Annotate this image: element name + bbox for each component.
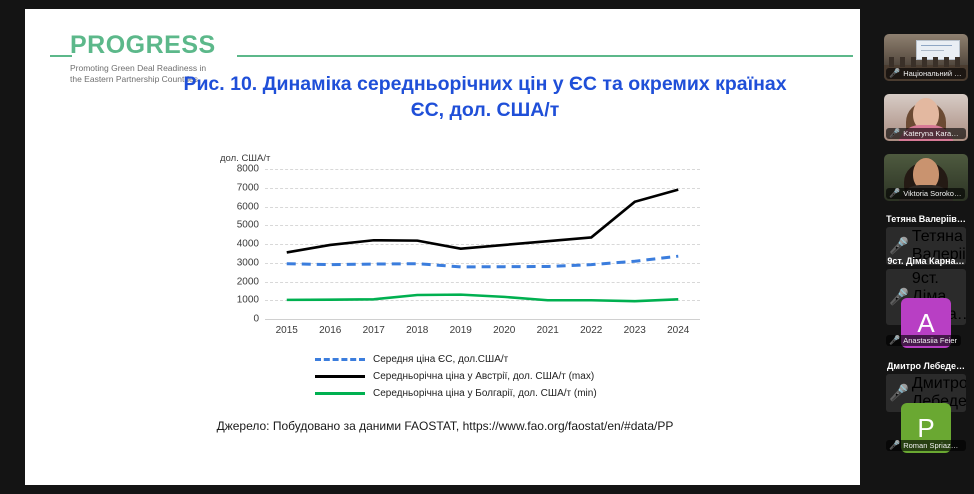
gridline-0 xyxy=(265,319,700,320)
participant-name-heading: 9ст. Діма Карна… xyxy=(884,256,968,266)
logo-wordmark: PROGRESS xyxy=(70,33,230,58)
y-tick-2000: 2000 xyxy=(237,276,259,287)
participant-name: Anastasiia Feier xyxy=(903,336,957,345)
participant-tile[interactable]: 🎤Viktoria Soroko… xyxy=(884,154,968,201)
legend-label-0: Середня ціна ЄС, дол.США/т xyxy=(373,354,508,365)
legend-label-2: Середньорічна ціна у Болгарії, дол. США/… xyxy=(373,388,597,399)
y-tick-3000: 3000 xyxy=(237,257,259,268)
y-tick-7000: 7000 xyxy=(237,182,259,193)
participant-tile[interactable]: 🎤Національний Уні… xyxy=(884,34,968,81)
slide-title: Рис. 10. Динаміка середньорічних цін у Є… xyxy=(175,71,795,124)
participant-name: Національний Уні… xyxy=(903,69,962,78)
participant-filmstrip[interactable]: 🎤Національний Уні…🎤Kateryna Karaba…🎤Vikt… xyxy=(876,0,974,494)
participant-avatar-tile: A🎤Anastasiia Feier xyxy=(884,298,968,348)
mic-muted-icon: 🎤 xyxy=(889,383,909,403)
legend-swatch-icon-1 xyxy=(315,375,365,378)
x-tick-2021: 2021 xyxy=(537,325,559,336)
audience-row xyxy=(889,57,963,67)
y-tick-0: 0 xyxy=(253,314,259,325)
x-tick-2024: 2024 xyxy=(667,325,689,336)
logo-rule-right xyxy=(237,55,853,57)
legend-swatch-icon-0 xyxy=(315,358,365,361)
chart-series-layer xyxy=(265,169,700,319)
chart-plot-area: 010002000300040005000600070008000 201520… xyxy=(265,169,700,319)
y-tick-4000: 4000 xyxy=(237,239,259,250)
participant-name: Kateryna Karaba… xyxy=(903,129,962,138)
y-tick-1000: 1000 xyxy=(237,295,259,306)
line-chart: дол. США/т 01000200030004000500060007000… xyxy=(210,149,720,349)
participant-name-heading: Тетяна Валеріів… xyxy=(884,214,968,224)
y-tick-6000: 6000 xyxy=(237,201,259,212)
participant-name-plate: 🎤Roman Spriazhka xyxy=(886,440,966,451)
mic-muted-icon: 🎤 xyxy=(889,336,900,345)
mic-muted-icon: 🎤 xyxy=(889,441,900,450)
mic-muted-icon: 🎤 xyxy=(889,129,900,138)
zoom-meeting-window: PROGRESS Promoting Green Deal Readiness … xyxy=(0,0,974,494)
participant-video: 🎤Kateryna Karaba… xyxy=(884,94,968,141)
participant-name-plate: 🎤Національний Уні… xyxy=(886,68,966,79)
participant-name: Viktoria Soroko… xyxy=(903,189,961,198)
y-axis-unit-label: дол. США/т xyxy=(220,153,270,164)
legend-swatch-icon-2 xyxy=(315,392,365,395)
x-tick-2016: 2016 xyxy=(319,325,341,336)
participant-name-heading: Дмитро Лебеде… xyxy=(884,361,968,371)
legend-item-0[interactable]: Середня ціна ЄС, дол.США/т xyxy=(315,351,745,367)
participant-name: Roman Spriazhka xyxy=(903,441,962,450)
shared-slide: PROGRESS Promoting Green Deal Readiness … xyxy=(25,9,860,485)
legend-item-1[interactable]: Середньорічна ціна у Австрії, дол. США/т… xyxy=(315,368,745,384)
participant-name-plate: 🎤Kateryna Karaba… xyxy=(886,128,966,139)
mic-muted-icon: 🎤 xyxy=(889,236,909,256)
x-tick-2022: 2022 xyxy=(580,325,602,336)
series-line-1 xyxy=(287,190,679,253)
logo-rule-left xyxy=(50,55,72,57)
mic-muted-icon: 🎤 xyxy=(889,189,900,198)
participant-avatar-tile: P🎤Roman Spriazhka xyxy=(884,403,968,453)
participant-name-plate: 🎤Anastasiia Feier xyxy=(886,335,961,346)
chart-legend: Середня ціна ЄС, дол.США/тСередньорічна … xyxy=(315,351,745,402)
legend-item-2[interactable]: Середньорічна ціна у Болгарії, дол. США/… xyxy=(315,385,745,401)
x-tick-2015: 2015 xyxy=(276,325,298,336)
source-note: Джерело: Побудовано за даними FAOSTAT, h… xyxy=(85,419,805,433)
participant-tile[interactable]: P🎤Roman Spriazhka xyxy=(884,403,968,453)
participant-tile[interactable]: A🎤Anastasiia Feier xyxy=(884,298,968,348)
legend-label-1: Середньорічна ціна у Австрії, дол. США/т… xyxy=(373,371,594,382)
mic-muted-icon: 🎤 xyxy=(889,69,900,78)
x-tick-2020: 2020 xyxy=(493,325,515,336)
participant-name-plate: 🎤Viktoria Soroko… xyxy=(886,188,965,199)
series-line-0 xyxy=(287,256,679,267)
participant-video: 🎤Viktoria Soroko… xyxy=(884,154,968,201)
x-tick-2023: 2023 xyxy=(624,325,646,336)
participant-tile[interactable]: 🎤Kateryna Karaba… xyxy=(884,94,968,141)
x-tick-2019: 2019 xyxy=(450,325,472,336)
participant-video: 🎤Національний Уні… xyxy=(884,34,968,81)
x-tick-2017: 2017 xyxy=(363,325,385,336)
x-tick-2018: 2018 xyxy=(406,325,428,336)
y-tick-5000: 5000 xyxy=(237,220,259,231)
series-line-2 xyxy=(287,295,679,302)
y-tick-8000: 8000 xyxy=(237,164,259,175)
